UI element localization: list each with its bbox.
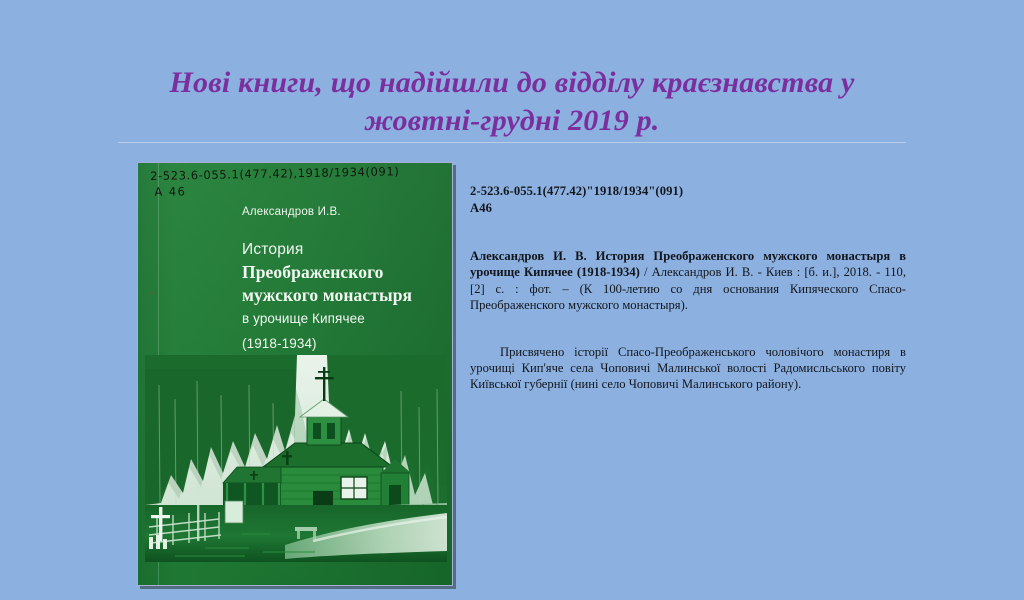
cover-title-block: История Преображенского мужского монасты… (242, 239, 440, 357)
cover-author: Александров И.В. (242, 206, 341, 218)
handwritten-call-number: 2-523.6-055.1(477.42),1918/1934(091) А 4… (150, 163, 400, 200)
cover-title-line-1: История (242, 239, 440, 261)
annotation-paragraph: Присвячено історії Спасо-Преображенськог… (470, 344, 906, 393)
bibliographic-description: Александров И. В. История Преображенског… (470, 248, 906, 314)
cover-photograph (145, 355, 447, 562)
church-photo-illustration (145, 355, 447, 562)
page-title: Нові книги, що надійшли до відділу краєз… (118, 64, 906, 140)
cover-title-line-5: (1918-1934) (242, 331, 440, 357)
catalogue-record: 2-523.6-055.1(477.42)"1918/1934"(091) А4… (470, 183, 906, 393)
cover-title-line-2: Преображенского (242, 261, 440, 284)
cover-title-line-3: мужского монастыря (242, 284, 440, 307)
call-number-block: 2-523.6-055.1(477.42)"1918/1934"(091) А4… (470, 183, 906, 217)
cover-title-line-4: в урочище Кипячее (242, 307, 440, 331)
cover-blemish (151, 291, 154, 294)
title-divider (118, 142, 906, 143)
call-number-line-1: 2-523.6-055.1(477.42)"1918/1934"(091) (470, 183, 906, 200)
call-number-line-2: А46 (470, 200, 906, 217)
handwritten-call-number-line2: А 46 (154, 179, 400, 200)
book-cover-image: 2-523.6-055.1(477.42),1918/1934(091) А 4… (137, 162, 453, 586)
